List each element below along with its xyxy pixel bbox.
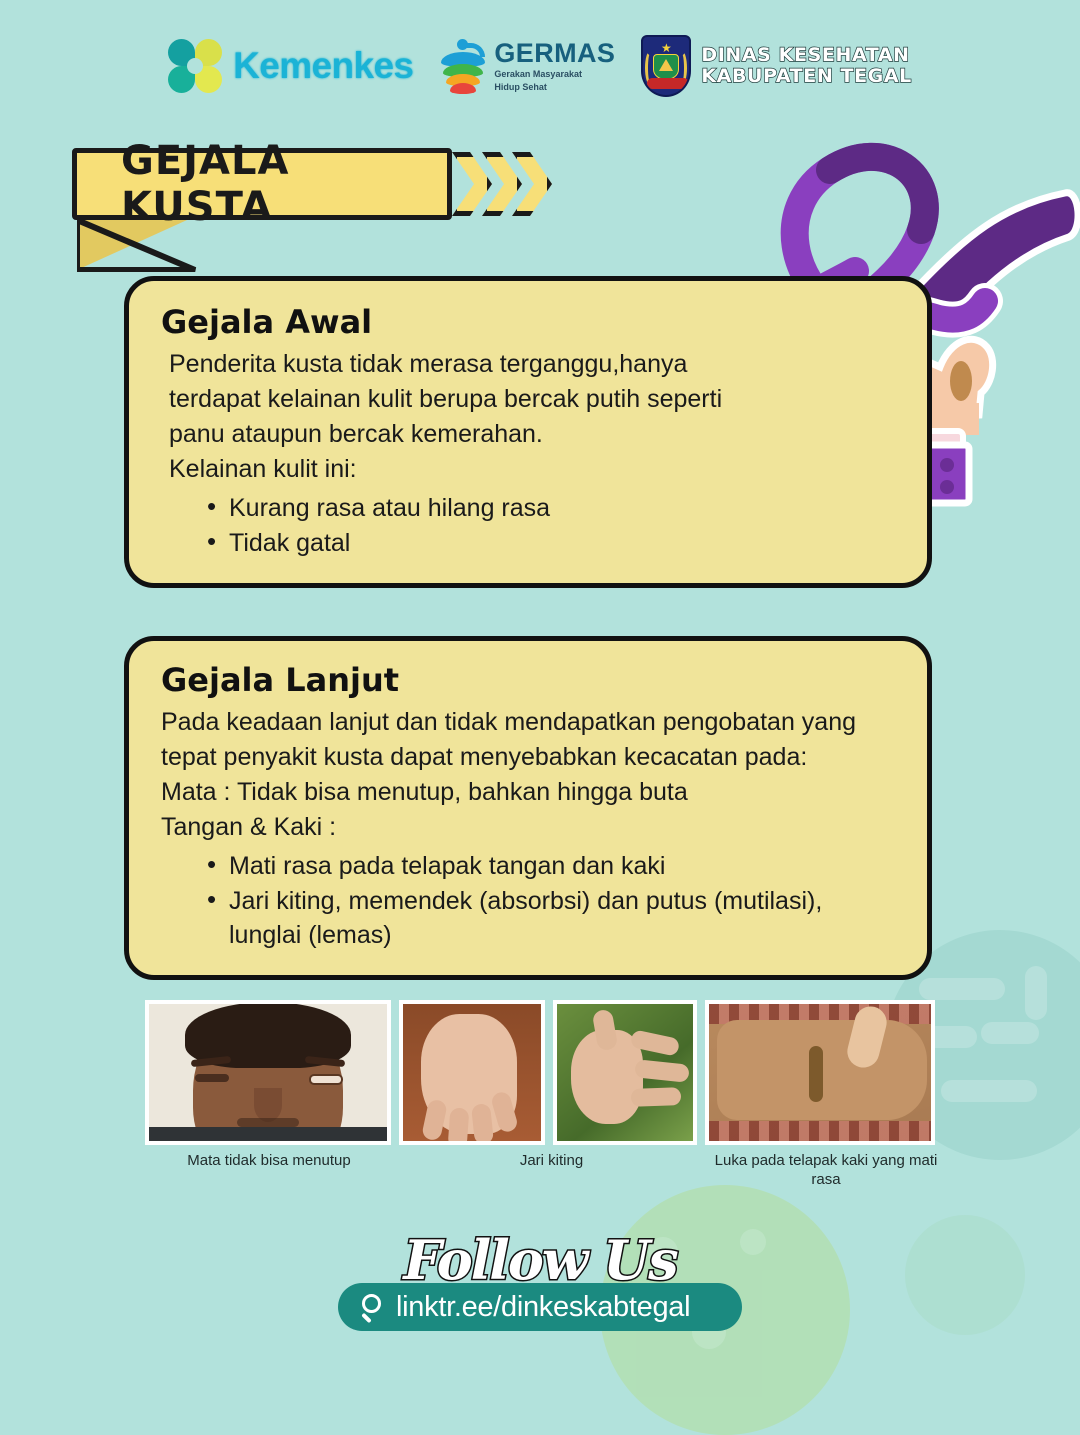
photo-clawed-hand xyxy=(399,1000,546,1145)
link-pill[interactable]: linktr.ee/dinkeskabtegal xyxy=(338,1283,742,1331)
list-item: Jari kiting, memendek (absorbsi) dan put… xyxy=(207,884,897,953)
dinkes-title-line1: DINAS KESEHATAN xyxy=(701,45,912,66)
magnifier-icon xyxy=(360,1294,386,1320)
kemenkes-flower-icon xyxy=(168,39,222,93)
lanjut-paragraph-4: Tangan & Kaki : xyxy=(161,810,897,845)
awal-bullet-list: Kurang rasa atau hilang rasa Tidak gatal xyxy=(161,491,897,560)
awal-paragraph-2: terdapat kelainan kulit berupa bercak pu… xyxy=(161,382,897,417)
awal-paragraph-3: panu ataupun bercak kemerahan. xyxy=(161,417,897,452)
banner-plate: GEJALA KUSTA xyxy=(72,148,452,220)
dinkes-logo: ★ DINAS KESEHATAN KABUPATEN TEGAL xyxy=(641,35,912,97)
list-item: Tidak gatal xyxy=(207,526,897,561)
kemenkes-wordmark: Kemenkes xyxy=(233,45,413,87)
photo-caption-3: Luka pada telapak kaki yang mati rasa xyxy=(710,1152,942,1189)
photo-foot-ulcer xyxy=(705,1000,935,1145)
germas-logo: GERMAS Gerakan Masyarakat Hidup Sehat xyxy=(439,37,615,95)
linktree-url[interactable]: linktr.ee/dinkeskabtegal xyxy=(396,1291,690,1324)
photo-open-palm xyxy=(553,1000,697,1145)
list-item: Kurang rasa atau hilang rasa xyxy=(207,491,897,526)
card-heading-lanjut: Gejala Lanjut xyxy=(161,661,897,699)
lanjut-paragraph-3: Mata : Tidak bisa menutup, bahkan hingga… xyxy=(161,775,897,810)
photo-eye-closure xyxy=(145,1000,391,1145)
photo-caption-2: Jari kiting xyxy=(401,1152,702,1171)
virus-decoration-corner xyxy=(905,1215,1025,1335)
card-gejala-awal: Gejala Awal Penderita kusta tidak merasa… xyxy=(124,276,932,588)
title-banner: GEJALA KUSTA xyxy=(72,148,452,220)
dinkes-title-line2: KABUPATEN TEGAL xyxy=(701,66,912,87)
list-item: Mati rasa pada telapak tangan dan kaki xyxy=(207,849,897,884)
germas-figure-icon xyxy=(439,37,487,95)
photo-caption-1: Mata tidak bisa menutup xyxy=(145,1152,393,1171)
kemenkes-logo: Kemenkes xyxy=(168,39,413,93)
awal-paragraph-1: Penderita kusta tidak merasa terganggu,h… xyxy=(161,347,897,382)
awal-paragraph-4: Kelainan kulit ini: xyxy=(161,452,897,487)
tegal-regency-emblem-icon: ★ xyxy=(641,35,691,97)
lanjut-paragraph-1: Pada keadaan lanjut dan tidak mendapatka… xyxy=(161,705,897,740)
germas-title: GERMAS xyxy=(494,40,615,67)
photo-strip xyxy=(145,1000,935,1145)
header-logo-bar: Kemenkes GERMAS Gerakan Masyarakat Hidup… xyxy=(0,28,1080,104)
germas-subtitle-line2: Hidup Sehat xyxy=(494,82,615,93)
germas-subtitle-line1: Gerakan Masyarakat xyxy=(494,69,615,80)
card-heading-awal: Gejala Awal xyxy=(161,303,897,341)
lanjut-bullet-list: Mati rasa pada telapak tangan dan kaki J… xyxy=(161,849,897,953)
page-title: GEJALA KUSTA xyxy=(121,138,447,230)
card-gejala-lanjut: Gejala Lanjut Pada keadaan lanjut dan ti… xyxy=(124,636,932,980)
lanjut-paragraph-2: tepat penyakit kusta dapat menyebabkan k… xyxy=(161,740,897,775)
